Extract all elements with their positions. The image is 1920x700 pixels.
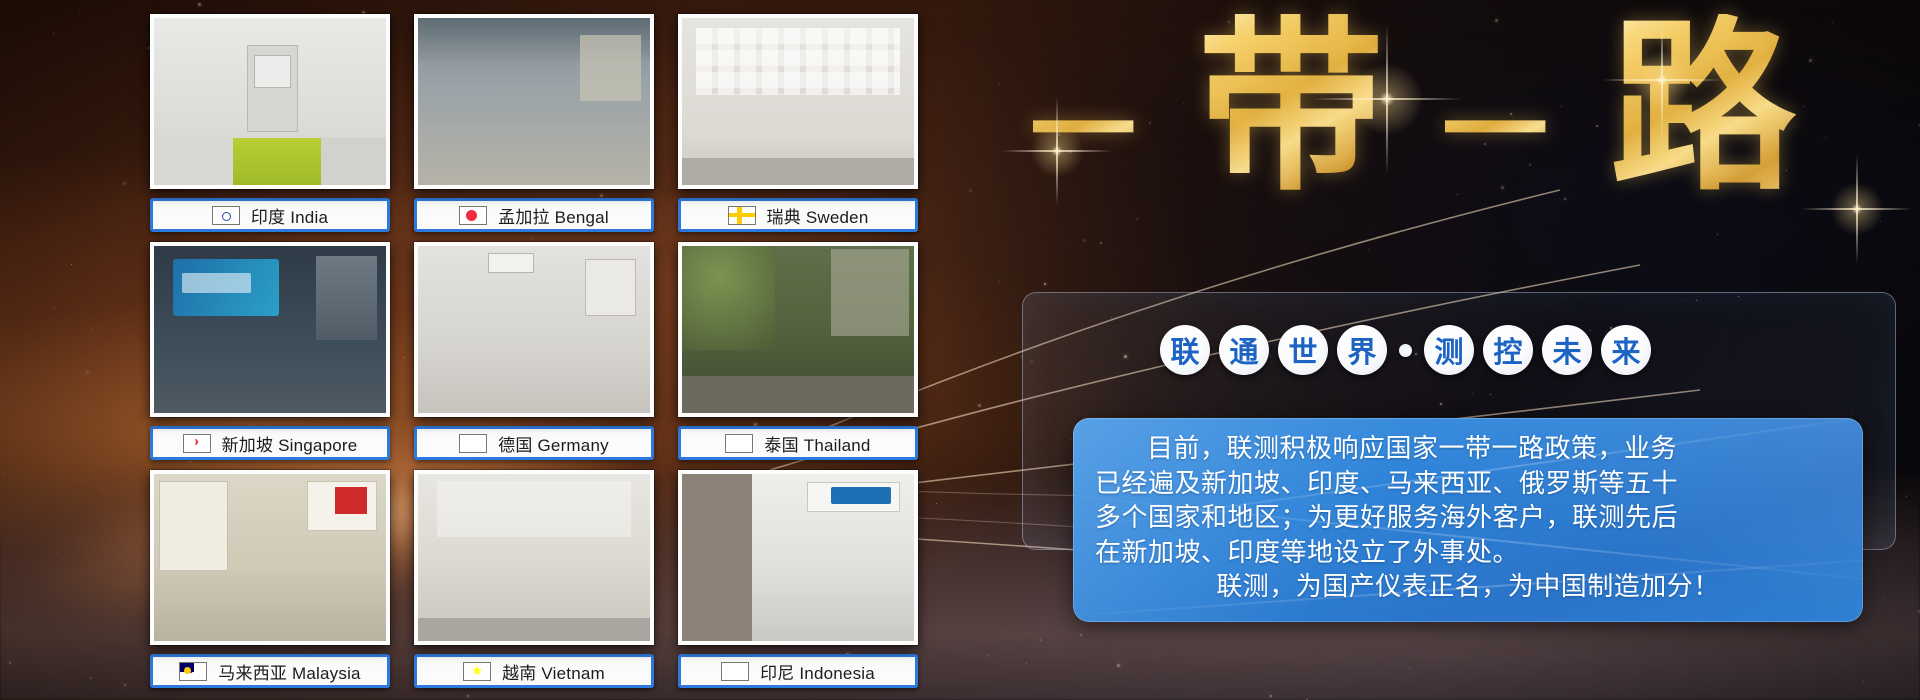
indonesia-flag-icon [721,662,749,681]
description-line: 已经遍及新加坡、印度、马来西亚、俄罗斯等五十 [1095,466,1841,501]
photo-gallery: 印度 India [150,14,930,690]
headline-char-3: 一 [1442,78,1548,184]
gallery-item[interactable]: 新加坡 Singapore [150,242,390,460]
country-label-malaysia[interactable]: 马来西亚 Malaysia [150,654,390,688]
description-line: 联测，为国产仪表正名，为中国制造加分！ [1095,569,1841,604]
country-label-text: 印尼 Indonesia [760,659,875,684]
headline-calligraphy: 一 带 一 路 [1012,4,1892,214]
gallery-item[interactable]: 孟加拉 Bengal [414,14,654,232]
description-line: 目前，联测积极响应国家一带一路政策，业务 [1095,431,1841,466]
singapore-flag-icon [183,434,211,453]
country-label-singapore[interactable]: 新加坡 Singapore [150,426,390,460]
thailand-flag-icon [725,434,753,453]
photo-thailand [678,242,918,417]
description-line: 多个国家和地区；为更好服务海外客户，联测先后 [1095,500,1841,535]
photo-india [150,14,390,189]
headline-char-2: 带 [1198,14,1384,200]
slogan-row: 联 通 世 界 测 控 未 来 [1160,325,1651,375]
germany-flag-icon [459,434,487,453]
country-label-vietnam[interactable]: 越南 Vietnam [414,654,654,688]
slogan-separator-dot [1399,344,1412,357]
country-label-text: 印度 India [251,203,328,228]
slogan-char-bubble: 世 [1278,325,1328,375]
gallery-item[interactable]: 瑞典 Sweden [678,14,918,232]
gallery-item[interactable]: 泰国 Thailand [678,242,918,460]
gallery-item[interactable]: 马来西亚 Malaysia [150,470,390,688]
photo-sweden [678,14,918,189]
country-label-text: 孟加拉 Bengal [498,203,609,228]
country-label-text: 新加坡 Singapore [222,431,358,456]
country-label-sweden[interactable]: 瑞典 Sweden [678,198,918,232]
country-label-germany[interactable]: 德国 Germany [414,426,654,460]
slogan-char-bubble: 通 [1219,325,1269,375]
bengal-flag-icon [459,206,487,225]
photo-malaysia [150,470,390,645]
slogan-char-bubble: 来 [1601,325,1651,375]
promotional-banner: 印度 India [0,0,1920,700]
photo-singapore [150,242,390,417]
slogan-char-bubble: 测 [1424,325,1474,375]
photo-germany [414,242,654,417]
sweden-flag-icon [728,206,756,225]
gallery-item[interactable]: 印度 India [150,14,390,232]
slogan-char-bubble: 未 [1542,325,1592,375]
photo-vietnam [414,470,654,645]
country-label-text: 泰国 Thailand [764,431,870,456]
gallery-item[interactable]: 德国 Germany [414,242,654,460]
description-line: 在新加坡、印度等地设立了外事处。 [1095,535,1841,570]
slogan-char-bubble: 联 [1160,325,1210,375]
description-panel: 目前，联测积极响应国家一带一路政策，业务 已经遍及新加坡、印度、马来西亚、俄罗斯… [1073,418,1863,622]
gallery-item[interactable]: 印尼 Indonesia [678,470,918,688]
slogan-char-bubble: 控 [1483,325,1533,375]
slogan-char-bubble: 界 [1337,325,1387,375]
photo-bengal [414,14,654,189]
gallery-item[interactable]: 越南 Vietnam [414,470,654,688]
photo-indonesia [678,470,918,645]
country-label-text: 瑞典 Sweden [767,203,869,228]
country-label-thailand[interactable]: 泰国 Thailand [678,426,918,460]
country-label-text: 越南 Vietnam [502,659,605,684]
india-flag-icon [212,206,240,225]
country-label-indonesia[interactable]: 印尼 Indonesia [678,654,918,688]
vietnam-flag-icon [463,662,491,681]
malaysia-flag-icon [179,662,207,681]
country-label-text: 德国 Germany [498,431,609,456]
headline-char-1: 一 [1030,78,1136,184]
headline-char-4: 路 [1610,14,1796,200]
country-label-bengal[interactable]: 孟加拉 Bengal [414,198,654,232]
country-label-text: 马来西亚 Malaysia [218,659,360,684]
country-label-india[interactable]: 印度 India [150,198,390,232]
